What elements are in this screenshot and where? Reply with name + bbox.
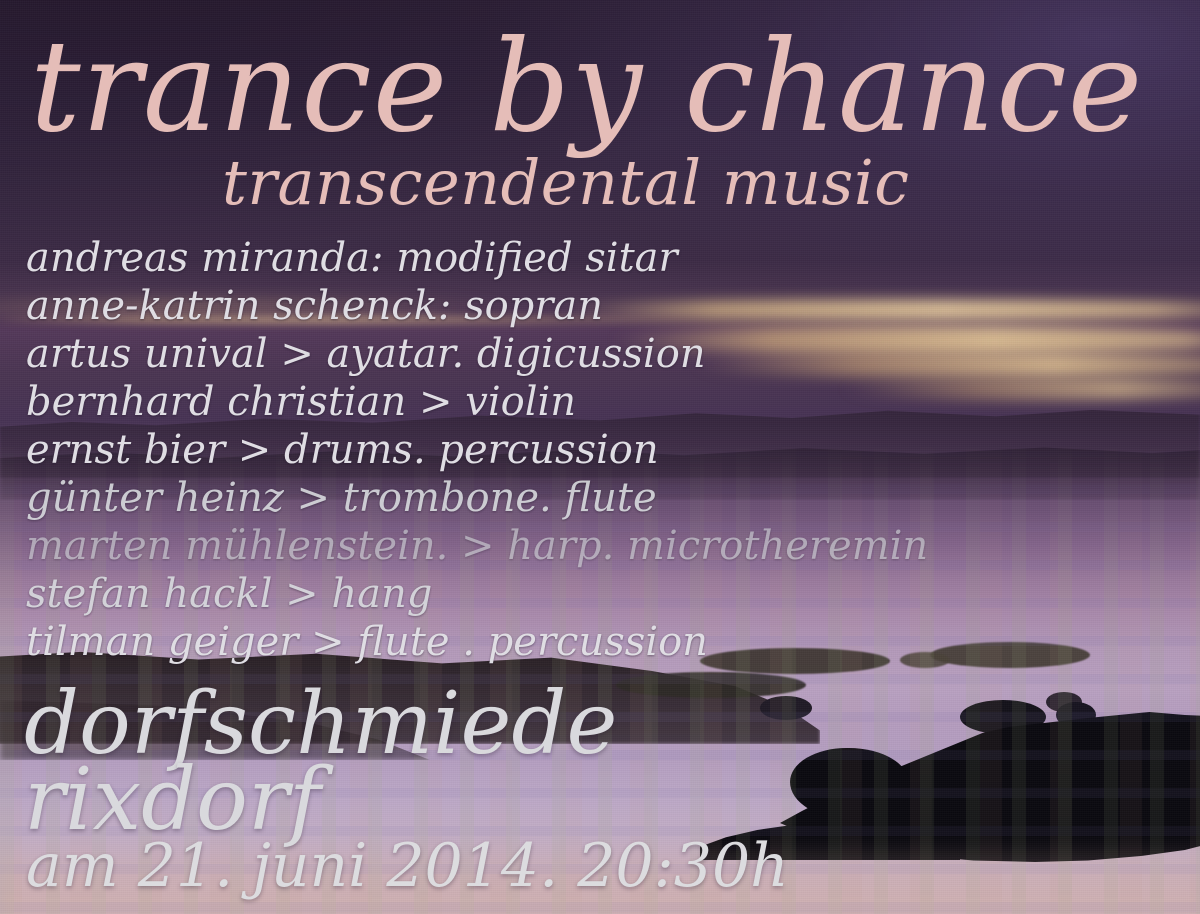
- venue-name: dorfschmiede rixdorf: [24, 686, 617, 838]
- event-date-time: am 21. juni 2014. 20:30h: [26, 836, 789, 896]
- concert-poster: trance by chance transcendental music an…: [0, 0, 1200, 914]
- performer-list: andreas miranda: modified sitar anne-kat…: [26, 234, 1026, 666]
- list-item: stefan hackl > hang: [26, 570, 1026, 618]
- list-item: marten mühlenstein. > harp. microtheremi…: [26, 522, 1026, 570]
- list-item: bernhard christian > violin: [26, 378, 1026, 426]
- poster-title: trance by chance: [30, 24, 1143, 150]
- poster-subtitle: transcendental music: [222, 152, 909, 214]
- list-item: anne-katrin schenck: sopran: [26, 282, 1026, 330]
- list-item: tilman geiger > flute . percussion: [26, 618, 1026, 666]
- list-item: günter heinz > trombone. flute: [26, 474, 1026, 522]
- list-item: andreas miranda: modified sitar: [26, 234, 1026, 282]
- list-item: artus unival > ayatar. digicussion: [26, 330, 1026, 378]
- list-item: ernst bier > drums. percussion: [26, 426, 1026, 474]
